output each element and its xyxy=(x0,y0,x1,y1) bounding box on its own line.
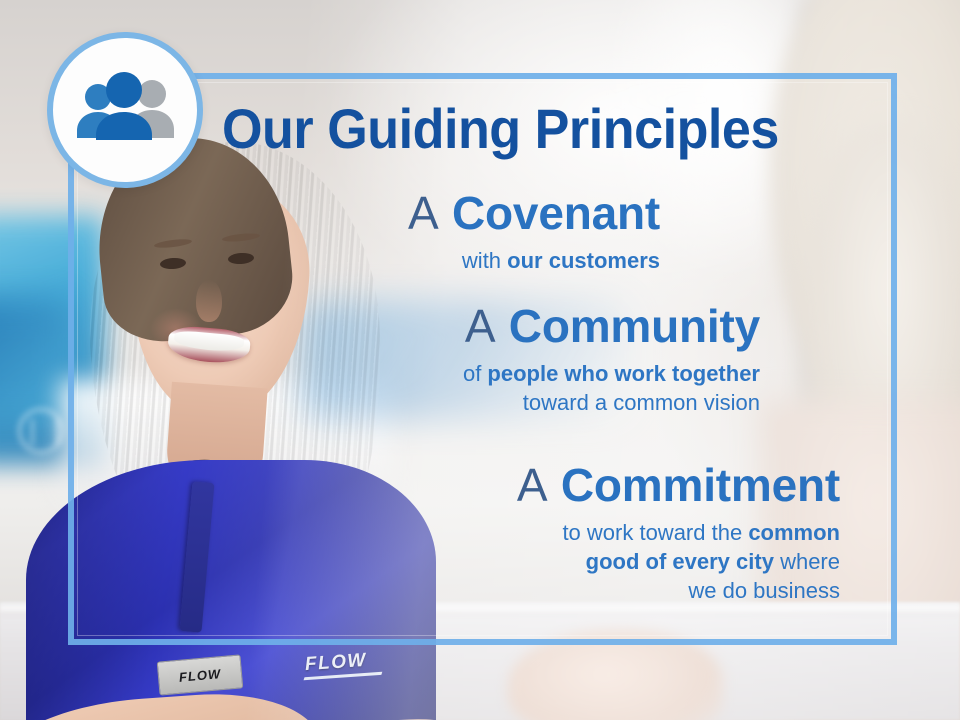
principle-description-line: with our customers xyxy=(250,246,660,275)
plain-text: where xyxy=(774,549,840,574)
emphasis-text: our customers xyxy=(507,248,660,273)
principle-description-line: to work toward the common xyxy=(360,518,840,547)
principle-keyword: Commitment xyxy=(561,459,840,511)
plain-text: of xyxy=(463,361,487,386)
poster-canvas: FLOW FLOW xyxy=(0,0,960,720)
plain-text: we do business xyxy=(688,578,840,603)
name-badge-logo-text: FLOW xyxy=(178,666,221,685)
principle-description-line: we do business xyxy=(360,576,840,605)
principle-community: A Community of people who work togethert… xyxy=(300,303,760,417)
employee-name-badge: FLOW xyxy=(157,654,244,695)
principle-description-line: good of every city where xyxy=(360,547,840,576)
principle-headline: A Covenant xyxy=(250,190,660,237)
principle-commitment: A Commitment to work toward the commongo… xyxy=(360,462,840,605)
plain-text: to work toward the xyxy=(562,520,748,545)
principle-description: to work toward the commongood of every c… xyxy=(360,518,840,605)
people-group-icon xyxy=(73,72,177,148)
emphasis-text: people who work together xyxy=(487,361,760,386)
emphasis-text: good of every city xyxy=(586,549,774,574)
principle-description-line: toward a common vision xyxy=(300,388,760,417)
principle-covenant: A Covenant with our customers xyxy=(250,190,660,275)
page-title: Our Guiding Principles xyxy=(222,96,779,161)
people-badge xyxy=(47,32,203,188)
principle-article: A xyxy=(517,459,548,511)
principle-description: with our customers xyxy=(250,246,660,275)
principle-headline: A Commitment xyxy=(360,462,840,509)
plain-text: with xyxy=(462,248,507,273)
principle-article: A xyxy=(408,187,439,239)
plain-text: toward a common vision xyxy=(523,390,760,415)
emphasis-text: common xyxy=(748,520,840,545)
principle-article: A xyxy=(465,300,496,352)
principle-headline: A Community xyxy=(300,303,760,350)
principle-keyword: Community xyxy=(509,300,760,352)
shirt-flow-logo: FLOW xyxy=(304,650,367,676)
principle-description: of people who work togethertoward a comm… xyxy=(300,359,760,417)
principle-description-line: of people who work together xyxy=(300,359,760,388)
principle-keyword: Covenant xyxy=(452,187,660,239)
